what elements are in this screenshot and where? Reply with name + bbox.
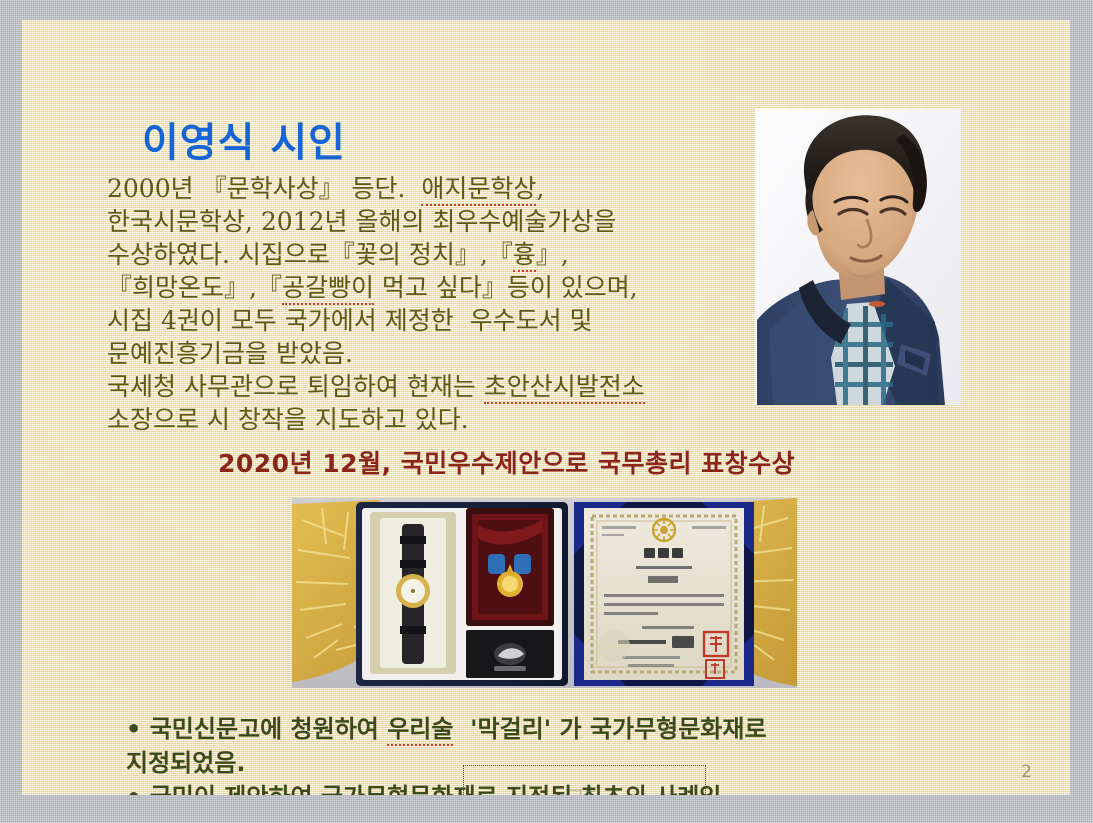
spellcheck-term: 공갈빵이 (282, 273, 374, 305)
text-line: 국세청 사무관으로 퇴임하여 현재는 초안산시발전소 (107, 370, 747, 403)
page-number: 2 (1021, 762, 1032, 782)
text-line: 시집 4권이 모두 국가에서 제정한 우수도서 및 (107, 304, 747, 337)
text-line: 한국시문학상, 2012년 올해의 최우수예술가상을 (107, 205, 747, 238)
biography-text: 2000년 『문학사상』 등단. 애지문학상,한국시문학상, 2012년 올해의… (107, 172, 747, 436)
text-placeholder-label: 글자 (567, 784, 602, 795)
text-line: • 국민신문고에 청원하여 우리술 '막걸리' 가 국가무형문화재로 (126, 712, 916, 746)
text-placeholder-box[interactable]: 글자 (463, 765, 706, 795)
slide-canvas: 이영식 시인 2000년 『문학사상』 등단. 애지문학상,한국시문학상, 20… (22, 20, 1070, 795)
text-line: 소장으로 시 창작을 지도하고 있다. (107, 403, 747, 436)
text-line: 문예진흥기금을 받았음. (107, 337, 747, 370)
portrait-photo (755, 108, 961, 405)
spellcheck-term: 초안산시발전소 (484, 372, 645, 404)
spellcheck-term: 애지문학상 (421, 174, 536, 206)
page-title: 이영식 시인 (142, 110, 346, 168)
spellcheck-term: 흉 (513, 240, 536, 272)
spellcheck-term: 우리술 (387, 715, 453, 746)
slide-outer-frame: 이영식 시인 2000년 『문학사상』 등단. 애지문학상,한국시문학상, 20… (0, 0, 1093, 823)
text-line: 『희망온도』,『공갈빵이 먹고 싶다』등이 있으며, (107, 271, 747, 304)
award-headline: 2020년 12월, 국민우수제안으로 국무총리 표창수상 (218, 444, 795, 480)
text-line: 2000년 『문학사상』 등단. 애지문학상, (107, 172, 747, 205)
text-line: 수상하였다. 시집으로『꽃의 정치』,『흉』, (107, 238, 747, 271)
award-certificate-photo (292, 498, 797, 688)
